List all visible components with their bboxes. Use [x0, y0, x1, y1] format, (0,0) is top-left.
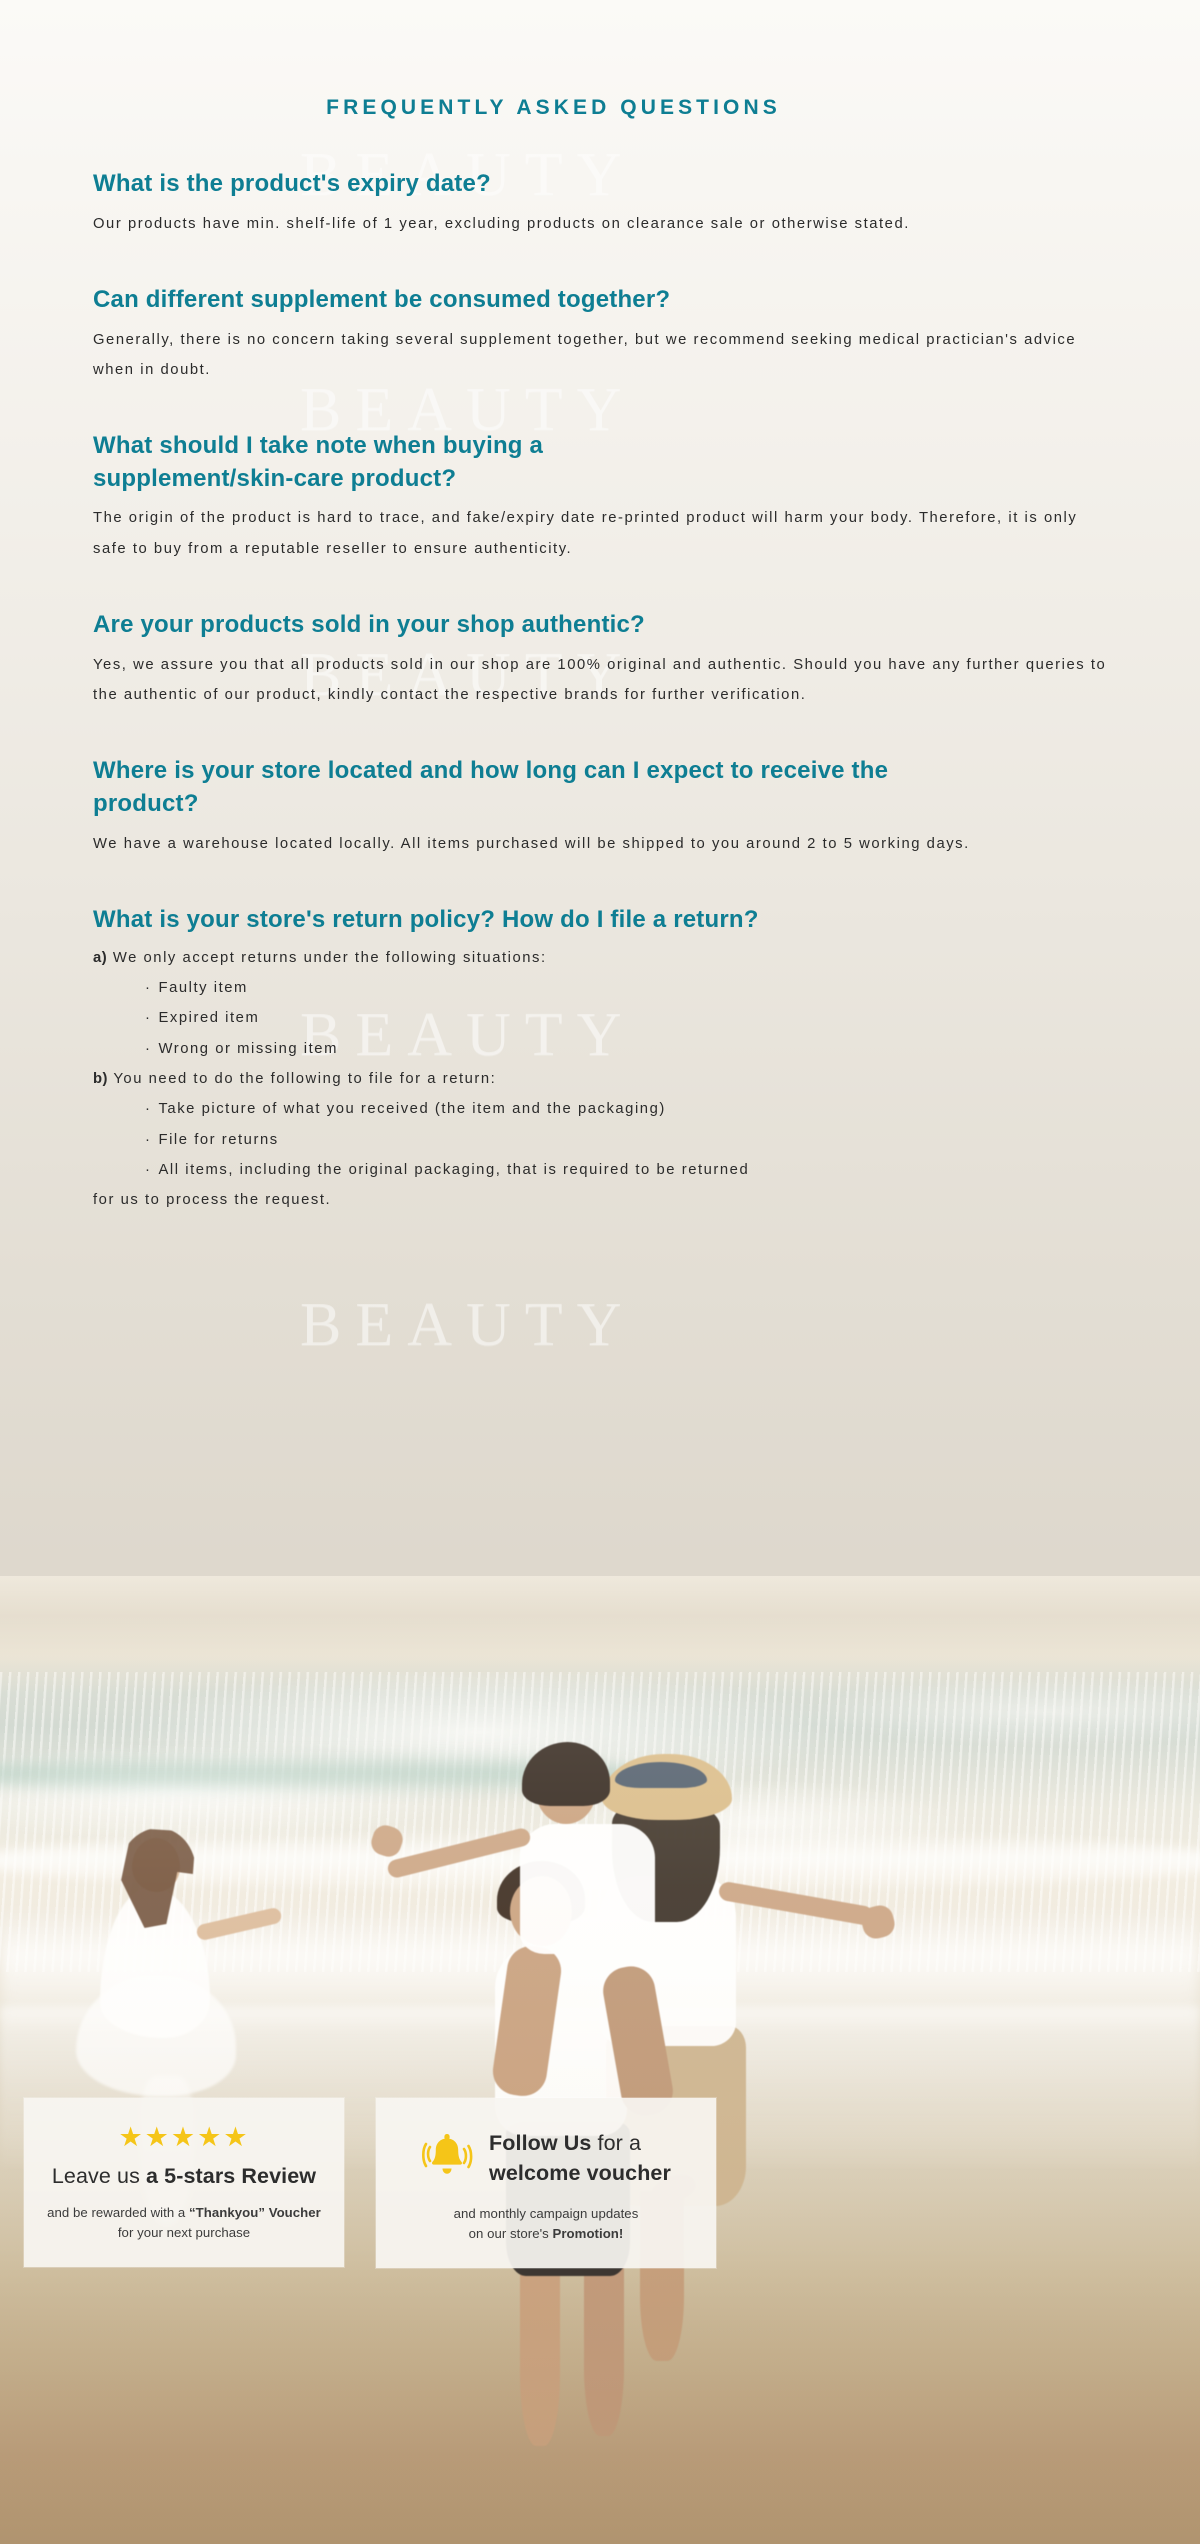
list-item: ·Expired item	[93, 1003, 1110, 1033]
beach-photo	[0, 1576, 1200, 2544]
returns-group-b-line: b) You need to do the following to file …	[93, 1064, 1110, 1094]
star-icon: ★	[223, 2124, 249, 2151]
star-icon: ★	[171, 2124, 197, 2151]
list-item-label: Expired item	[158, 1010, 259, 1026]
faq-answer: Our products have min. shelf-life of 1 y…	[93, 209, 1110, 239]
faq-answer: The origin of the product is hard to tra…	[93, 503, 1110, 564]
faq-answer: Yes, we assure you that all products sol…	[93, 650, 1110, 711]
list-item-label: Wrong or missing item	[158, 1041, 337, 1057]
star-icon: ★	[145, 2124, 171, 2151]
faq-item: Can different supplement be consumed tog…	[93, 284, 1110, 385]
follow-heading-bold1: Follow Us	[489, 2131, 591, 2155]
bullet-icon: ·	[145, 1041, 151, 1057]
faq-item-returns: What is your store's return policy? How …	[93, 904, 1110, 1216]
list-item: ·Faulty item	[93, 973, 1110, 1003]
faq-item: Are your products sold in your shop auth…	[93, 609, 1110, 710]
girl-arm	[195, 1907, 282, 1942]
list-marker-b: b)	[93, 1071, 108, 1087]
review-heading-prefix: Leave us	[52, 2164, 146, 2188]
star-icon: ★	[197, 2124, 223, 2151]
list-label-b: You need to do the following to file for…	[113, 1071, 496, 1087]
faq-item: Where is your store located and how long…	[93, 755, 1110, 859]
faq-question: Are your products sold in your shop auth…	[93, 609, 1110, 642]
bullet-icon: ·	[145, 1010, 151, 1026]
review-sub-bold: “Thankyou” Voucher	[189, 2205, 321, 2220]
list-item: ·Take picture of what you received (the …	[93, 1094, 1110, 1124]
follow-sub-line2-bold: Promotion!	[553, 2226, 624, 2241]
faq-question: Where is your store located and how long…	[93, 755, 953, 820]
review-card[interactable]: ★★★★★ Leave us a 5-stars Review and be r…	[24, 2098, 344, 2267]
bullet-icon: ·	[145, 1101, 151, 1117]
faq-item: What should I take note when buying a su…	[93, 430, 1110, 564]
review-card-sub: and be rewarded with a “Thankyou” Vouche…	[42, 2203, 326, 2243]
beach-figures	[0, 1576, 1200, 2544]
boy-hand	[368, 1822, 406, 1860]
list-item: ·All items, including the original packa…	[93, 1155, 1110, 1185]
father-leg-right	[584, 2266, 624, 2436]
list-item: ·File for returns	[93, 1125, 1110, 1155]
list-item-label: All items, including the original packag…	[158, 1162, 749, 1178]
father-leg-left	[520, 2266, 560, 2446]
boy-hair	[522, 1742, 610, 1806]
list-label-a: We only accept returns under the followi…	[113, 950, 547, 966]
faq-item: What is the product's expiry date? Our p…	[93, 168, 1110, 239]
mother-arm	[718, 1881, 875, 1927]
watermark-beauty: BEAUTY	[300, 1290, 635, 1361]
faq-answer: We have a warehouse located locally. All…	[93, 829, 1110, 859]
follow-heading-mid: for a	[591, 2131, 641, 2155]
bullet-icon: ·	[145, 1132, 151, 1148]
list-marker-a: a)	[93, 950, 107, 966]
faq-page: BEAUTY BEAUTY BEAUTY BEAUTY BEAUTY FREQU…	[0, 0, 1200, 2544]
follow-sub-line2-prefix: on our store's	[469, 2226, 553, 2241]
faq-question: Can different supplement be consumed tog…	[93, 284, 1110, 317]
review-card-heading: Leave us a 5-stars Review	[42, 2163, 326, 2191]
list-item-label: Faulty item	[158, 980, 247, 996]
bullet-icon: ·	[145, 1162, 151, 1178]
list-item: ·Wrong or missing item	[93, 1034, 1110, 1064]
faq-answer: Generally, there is no concern taking se…	[93, 325, 1110, 386]
faq-question: What should I take note when buying a su…	[93, 430, 713, 495]
star-icon: ★	[118, 2124, 144, 2151]
faq-question: What is your store's return policy? How …	[93, 904, 1110, 937]
review-sub-prefix: and be rewarded with a	[47, 2205, 189, 2220]
follow-card[interactable]: Follow Us for a welcome voucher and mont…	[376, 2098, 716, 2268]
faq-question: What is the product's expiry date?	[93, 168, 1110, 201]
returns-closing-line: for us to process the request.	[93, 1185, 1110, 1215]
star-rating-icon: ★★★★★	[42, 2124, 326, 2151]
review-sub-line2: for your next purchase	[118, 2225, 250, 2240]
list-item-label: Take picture of what you received (the i…	[158, 1101, 665, 1117]
follow-card-top: Follow Us for a welcome voucher	[394, 2130, 698, 2188]
bullet-icon: ·	[145, 980, 151, 996]
follow-card-heading: Follow Us for a welcome voucher	[489, 2130, 671, 2188]
returns-group-a-line: a) We only accept returns under the foll…	[93, 943, 1110, 973]
follow-card-sub: and monthly campaign updates on our stor…	[394, 2204, 698, 2244]
returns-group-a: a) We only accept returns under the foll…	[93, 943, 1110, 1216]
review-heading-bold: a 5-stars Review	[146, 2164, 316, 2188]
faq-heading: FREQUENTLY ASKED QUESTIONS	[0, 0, 1200, 120]
follow-heading-bold2: welcome voucher	[489, 2161, 671, 2185]
faq-section: BEAUTY BEAUTY BEAUTY BEAUTY BEAUTY FREQU…	[0, 0, 1200, 1576]
follow-sub-line1: and monthly campaign updates	[454, 2206, 639, 2221]
bell-icon	[421, 2131, 473, 2186]
list-item-label: File for returns	[158, 1132, 278, 1148]
boy-shirt	[520, 1824, 655, 1954]
